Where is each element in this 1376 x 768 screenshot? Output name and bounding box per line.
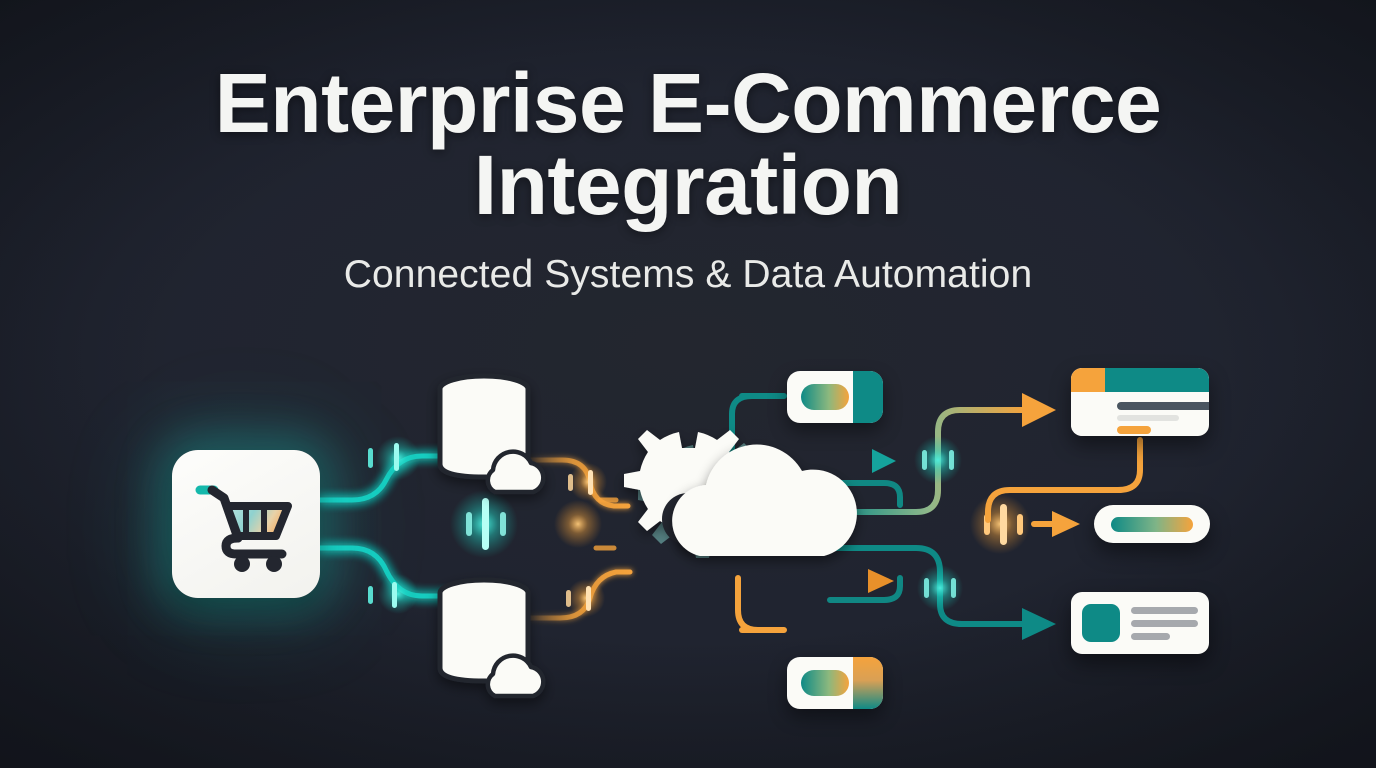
connector-hub-to-card-profile [832, 548, 1056, 640]
service-tag-bottom-pill [801, 670, 849, 696]
dashboard-card-sidebar-accent [1071, 368, 1105, 392]
dashboard-card-sidebar [1071, 368, 1105, 436]
connector-db-bottom-to-hub [528, 572, 630, 618]
service-tag-top[interactable] [787, 371, 883, 423]
service-tag-top-edge [853, 371, 883, 423]
connector-cart-to-hub-beam [322, 490, 624, 558]
service-tag-bottom[interactable] [787, 657, 883, 709]
dashboard-card-line-2 [1117, 415, 1179, 421]
service-tag-top-pill [801, 384, 849, 410]
page-title: Enterprise E-Commerce Integration [0, 62, 1376, 227]
database-cloud-icon-bottom [440, 580, 543, 696]
connector-cart-to-db-top [320, 436, 452, 500]
status-pill-card[interactable] [1094, 505, 1210, 543]
dashboard-card-line-1 [1117, 402, 1209, 410]
profile-card-line-1 [1131, 607, 1198, 614]
status-pill-fill [1111, 517, 1193, 532]
database-cloud-icon-top [440, 376, 543, 492]
arrow-mid-orange [828, 569, 894, 593]
arrow-hub-upper-teal [822, 449, 896, 473]
profile-card-avatar [1082, 604, 1120, 642]
dashboard-card-action-pill [1117, 426, 1151, 434]
dashboard-card-header [1105, 368, 1209, 392]
profile-card-line-3 [1131, 633, 1170, 640]
profile-card-lines [1131, 607, 1198, 640]
dashboard-card-body [1105, 368, 1209, 436]
connector-hub-to-tag-bottom [738, 578, 784, 630]
dashboard-card[interactable] [1071, 368, 1209, 436]
illustration-canvas: Enterprise E-Commerce Integration Connec… [0, 0, 1376, 768]
connector-cart-to-db-bottom [320, 548, 452, 614]
service-tag-bottom-edge [853, 657, 883, 709]
title-line-2: Integration [0, 144, 1376, 226]
gear-cloud-icon [624, 430, 857, 558]
profile-card-line-2 [1131, 620, 1198, 627]
shopping-cart-tile[interactable] [172, 450, 320, 598]
shopping-cart-icon [192, 476, 300, 572]
profile-card[interactable] [1071, 592, 1209, 654]
page-subtitle: Connected Systems & Data Automation [0, 253, 1376, 297]
heading-block: Enterprise E-Commerce Integration Connec… [0, 62, 1376, 297]
title-line-1: Enterprise E-Commerce [215, 56, 1162, 150]
